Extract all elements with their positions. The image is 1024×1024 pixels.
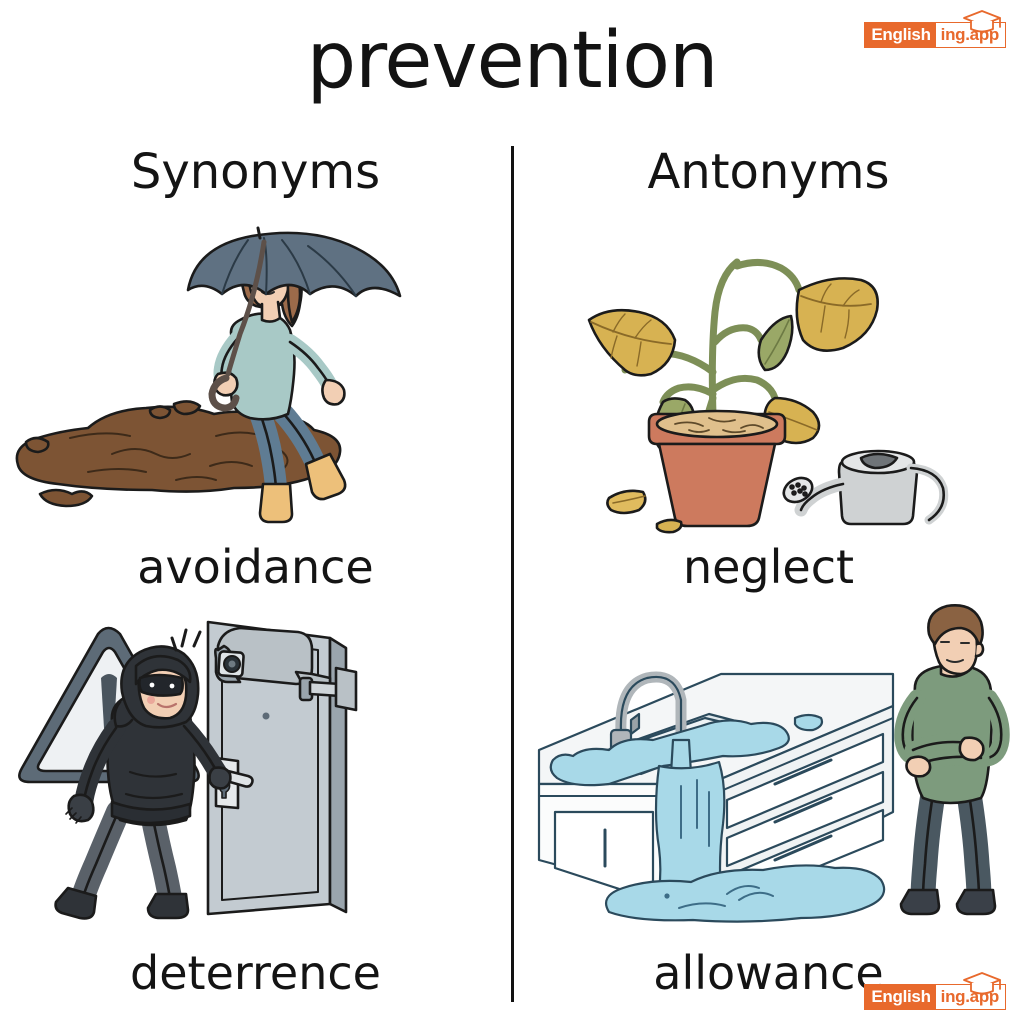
illustration-wilting-plant-watering-can <box>513 222 1024 530</box>
cell-deterrence[interactable]: deterrence <box>0 616 511 996</box>
illustration-woman-umbrella-mud-puddle <box>0 222 511 530</box>
brand-logo-top[interactable]: English ing.app <box>864 22 1006 48</box>
caption-avoidance: avoidance <box>0 544 511 590</box>
column-heading-antonyms: Antonyms <box>513 148 1024 196</box>
caption-deterrence: deterrence <box>0 950 511 996</box>
cell-allowance[interactable]: allowance <box>513 616 1024 996</box>
infographic-page: prevention English ing.app Synonyms Anto… <box>0 0 1024 1024</box>
illustration-burglar-door-camera-warning <box>0 616 511 924</box>
brand-word-english-bottom: English <box>865 985 935 1009</box>
graduation-cap-icon-bottom <box>960 970 1004 996</box>
column-heading-synonyms: Synonyms <box>0 148 511 196</box>
brand-logo-bottom[interactable]: English ing.app <box>864 984 1006 1010</box>
graduation-cap-icon <box>960 8 1004 34</box>
caption-neglect: neglect <box>513 544 1024 590</box>
illustration-overflowing-sink-flood <box>513 616 1024 924</box>
cell-neglect[interactable]: neglect <box>513 222 1024 590</box>
cell-avoidance[interactable]: avoidance <box>0 222 511 590</box>
brand-word-english: English <box>865 23 935 47</box>
